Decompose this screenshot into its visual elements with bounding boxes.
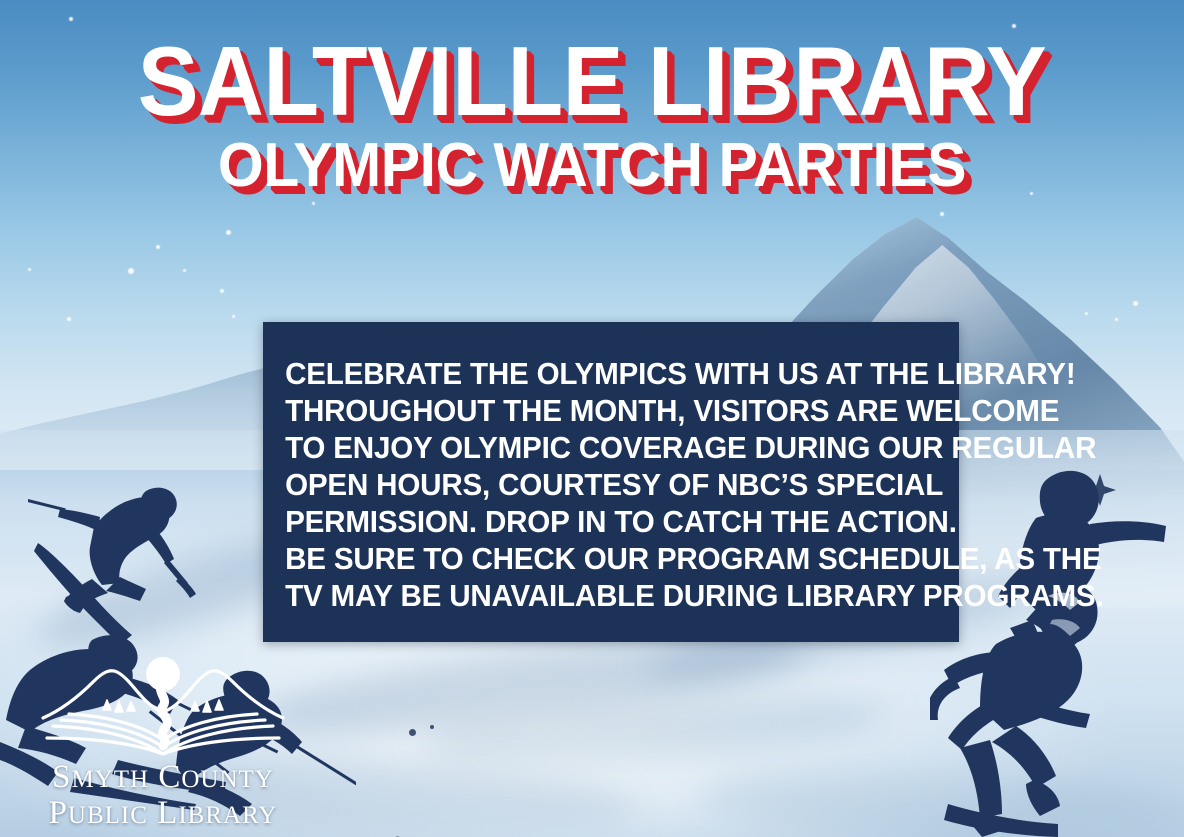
snow-particle bbox=[1115, 318, 1118, 321]
snow-particle bbox=[1085, 312, 1088, 315]
snow-speck bbox=[409, 729, 416, 736]
info-line: CELEBRATE THE OLYMPICS WITH US AT THE LI… bbox=[285, 356, 937, 393]
snow-particle bbox=[183, 269, 186, 272]
snow-particle bbox=[940, 212, 944, 216]
snow-particle bbox=[156, 245, 160, 249]
snow-particle bbox=[312, 202, 315, 205]
snow-particle bbox=[232, 315, 235, 318]
logo-text-line-1: SMYTH COUNTY bbox=[8, 760, 318, 794]
snow-particle bbox=[69, 17, 73, 21]
info-line: TO ENJOY OLYMPIC COVERAGE DURING OUR REG… bbox=[285, 430, 937, 467]
snow-particle bbox=[128, 268, 134, 274]
snow-speck bbox=[430, 725, 434, 729]
info-line: TV MAY BE UNAVAILABLE DURING LIBRARY PRO… bbox=[285, 578, 937, 615]
poster-canvas: SALTVILLE LIBRARY OLYMPIC WATCH PARTIES … bbox=[0, 0, 1184, 837]
snow-particle bbox=[1133, 301, 1138, 306]
info-line: THROUGHOUT THE MONTH, VISITORS ARE WELCO… bbox=[285, 393, 937, 430]
mountains-river-open-book-emblem bbox=[27, 648, 299, 760]
page-title: SALTVILLE LIBRARY bbox=[41, 34, 1142, 128]
info-text-box: CELEBRATE THE OLYMPICS WITH US AT THE LI… bbox=[263, 322, 959, 642]
snow-particle bbox=[226, 230, 231, 235]
info-line: OPEN HOURS, COURTESY OF NBC’S SPECIAL bbox=[285, 467, 937, 504]
info-line: PERMISSION. DROP IN TO CATCH THE ACTION. bbox=[285, 504, 937, 541]
page-subtitle: OLYMPIC WATCH PARTIES bbox=[30, 136, 1155, 196]
snow-particle bbox=[220, 289, 224, 293]
snow-particle bbox=[67, 317, 71, 321]
library-logo: SMYTH COUNTY PUBLIC LIBRARY bbox=[8, 648, 318, 831]
snow-particle bbox=[28, 268, 31, 271]
logo-text-line-2: PUBLIC LIBRARY bbox=[8, 796, 318, 830]
poster-title-block: SALTVILLE LIBRARY OLYMPIC WATCH PARTIES bbox=[0, 34, 1184, 196]
info-line: BE SURE TO CHECK OUR PROGRAM SCHEDULE, A… bbox=[285, 541, 937, 578]
